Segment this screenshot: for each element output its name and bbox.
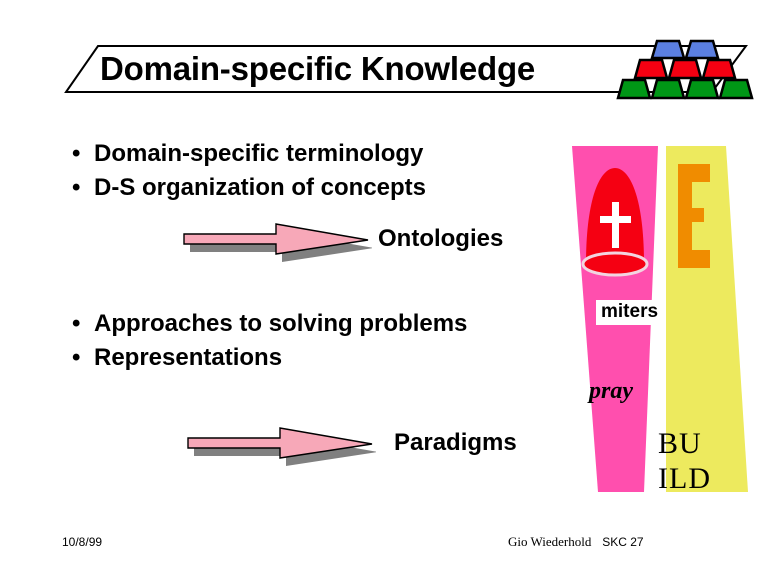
pray-label: pray (589, 378, 633, 405)
bullet-glyph: • (72, 308, 94, 340)
ontologies-label: Ontologies (378, 225, 503, 253)
bullet-text: Approaches to solving problems (94, 308, 467, 340)
ontologies-arrow (172, 216, 372, 264)
bullet-group-paradigms: • Approaches to solving problems • Repre… (72, 308, 502, 376)
bullet-glyph: • (72, 342, 94, 374)
footer-date: 10/8/99 (62, 535, 102, 549)
bullet-text: Representations (94, 342, 282, 374)
build-label: BUILD (658, 426, 712, 496)
miters-label: miters (596, 300, 663, 325)
bullet-text: D-S organization of concepts (94, 172, 426, 204)
bullet-glyph: • (72, 172, 94, 204)
miters-build-illustration: miters pray BUILD (556, 140, 768, 500)
list-item: • Representations (72, 342, 502, 374)
footer-author: Gio Wiederhold (508, 534, 591, 549)
bullet-glyph: • (72, 138, 94, 170)
list-item: • Approaches to solving problems (72, 308, 502, 340)
pyramid-bottom-row (618, 80, 752, 98)
bullet-group-ontologies: • Domain-specific terminology • D-S orga… (72, 138, 572, 206)
block-pyramid-icon (612, 38, 760, 100)
paradigms-label: Paradigms (394, 429, 517, 457)
pyramid-top-row (652, 41, 718, 58)
footer-credit: Gio Wiederhold SKC 27 (508, 534, 644, 550)
list-item: • Domain-specific terminology (72, 138, 572, 170)
page-title: Domain-specific Knowledge (100, 46, 700, 92)
pyramid-middle-row (635, 60, 735, 78)
paradigms-arrow (176, 420, 376, 468)
footer-code: SKC 27 (602, 535, 643, 549)
miter-band (583, 253, 647, 275)
presentation-slide: Domain-specific Knowledge (0, 0, 768, 576)
list-item: • D-S organization of concepts (72, 172, 572, 204)
bullet-text: Domain-specific terminology (94, 138, 423, 170)
